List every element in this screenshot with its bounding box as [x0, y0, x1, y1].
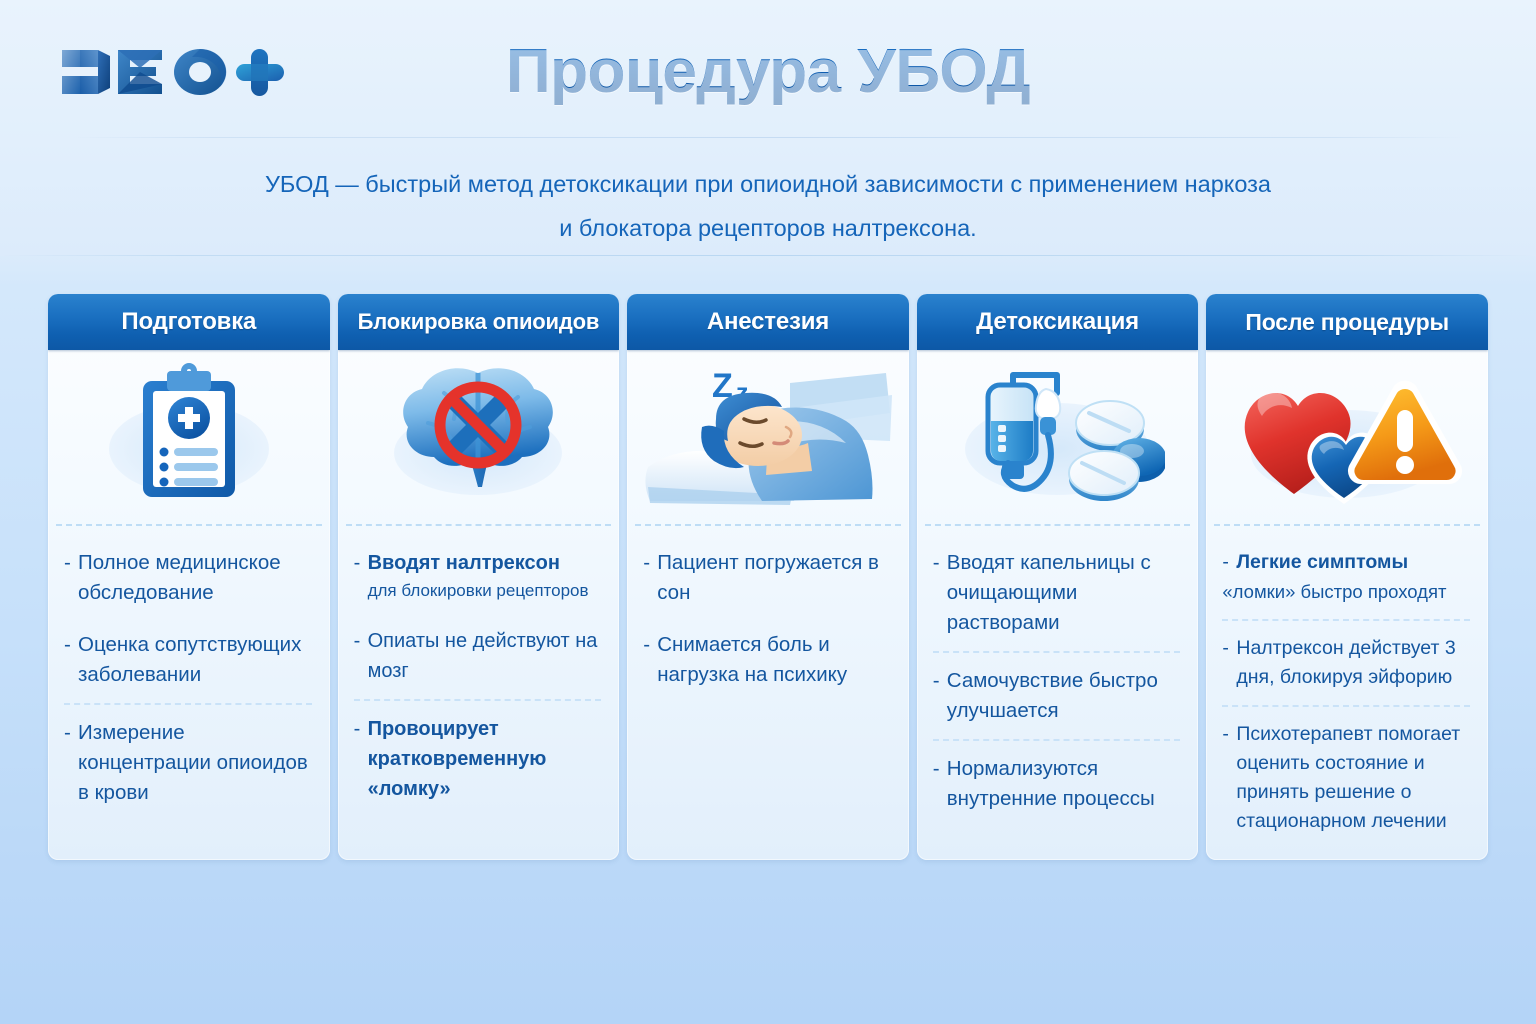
- step-bullets-anesthesia: - Пациент погружается в сон - Снимается …: [627, 526, 909, 860]
- bullet-separator: [1222, 619, 1470, 621]
- bullet-text: Легкие симптомы «ломки» быстро проходят: [1236, 548, 1472, 606]
- step-header-opioid-blocking: Блокировка опиоидов: [338, 294, 620, 350]
- bullet-separator: [1222, 705, 1470, 707]
- bullet-text: Вводят налтрексон для блокировки рецепто…: [368, 548, 604, 604]
- step-header-preparation: Подготовка: [48, 294, 330, 350]
- step-icon-area-detox: [917, 350, 1199, 524]
- step-card-anesthesia[interactable]: Анестезия: [627, 294, 909, 860]
- bullet-dash: -: [64, 630, 78, 690]
- bullet-item: - Легкие симптомы «ломки» быстро проходя…: [1222, 548, 1472, 606]
- bullet-text: Самочувствие быстро улучшается: [947, 666, 1183, 726]
- bullet-dash: -: [64, 548, 78, 608]
- card-section-divider: [56, 524, 322, 526]
- card-section-divider: [925, 524, 1191, 526]
- bullet-item: - Полное медицинское обследование: [64, 548, 314, 608]
- sleeping-patient-icon: Z z z: [640, 355, 895, 520]
- bullet-main-text: Легкие симптомы: [1236, 551, 1408, 573]
- bullet-dash: -: [1222, 720, 1236, 836]
- bullet-gap: [64, 608, 314, 630]
- bullet-main-text: Вводят налтрексон: [368, 552, 560, 574]
- bullet-text: Полное медицинское обследование: [78, 548, 314, 608]
- bullet-gap: [643, 608, 893, 630]
- bullet-dash: -: [1222, 634, 1236, 692]
- brain-blocked-icon: [378, 357, 578, 517]
- bullet-item: - Налтрексон действует 3 дня, блокируя э…: [1222, 634, 1472, 692]
- bullet-sub-text: «ломки» быстро проходят: [1222, 577, 1472, 606]
- bullet-text: Налтрексон действует 3 дня, блокируя эйф…: [1236, 634, 1472, 692]
- bullet-text: Оценка сопутствующих заболевании: [78, 630, 314, 690]
- bullet-item: - Самочувствие быстро улучшается: [933, 666, 1183, 726]
- bullet-dash: -: [354, 714, 368, 804]
- bullet-item: - Провоцирует кратковременную «ломку»: [354, 714, 604, 804]
- card-section-divider: [346, 524, 612, 526]
- title-underline-rule: [72, 137, 1464, 138]
- bullet-gap: [354, 604, 604, 626]
- bullet-item: - Вводят налтрексон для блокировки рецеп…: [354, 548, 604, 604]
- bullet-dash: -: [64, 718, 78, 808]
- subtitle-line-1: УБОД — быстрый метод детоксикации при оп…: [265, 171, 1271, 197]
- bullet-item: - Психотерапевт помогает оценить состоян…: [1222, 720, 1472, 836]
- bullet-dash: -: [354, 548, 368, 604]
- step-card-opioid-blocking[interactable]: Блокировка опиоидов: [338, 294, 620, 860]
- bullet-text: Измерение концентрации опиоидов в крови: [78, 718, 314, 808]
- bullet-text: Вводят капельницы с очищающими растворам…: [947, 548, 1183, 638]
- bullet-separator: [354, 699, 602, 701]
- step-header-after-procedure: После процедуры: [1206, 294, 1488, 350]
- bullet-text: Опиаты не действуют на мозг: [368, 626, 604, 686]
- step-header-label: Подготовка: [121, 308, 256, 336]
- step-card-preparation[interactable]: Подготовка: [48, 294, 330, 860]
- bullet-item: - Оценка сопутствующих заболевании: [64, 630, 314, 690]
- step-header-anesthesia: Анестезия: [627, 294, 909, 350]
- bullet-item: - Опиаты не действуют на мозг: [354, 626, 604, 686]
- step-icon-area-preparation: [48, 350, 330, 524]
- bullet-item: - Нормализуются внутренние процессы: [933, 754, 1183, 814]
- header-divider-rule: [0, 255, 1536, 256]
- bullet-text: Пациент погружается в сон: [657, 548, 893, 608]
- card-section-divider: [1214, 524, 1480, 526]
- step-header-detox: Детоксикация: [917, 294, 1199, 350]
- bullet-sub-text: для блокировки рецепторов: [368, 578, 604, 604]
- bullet-text: Снимается боль и нагрузка на психику: [657, 630, 893, 690]
- bullet-separator: [933, 651, 1181, 653]
- step-bullets-detox: - Вводят капельницы с очищающими раствор…: [917, 526, 1199, 860]
- hearts-warning-icon: [1232, 362, 1462, 512]
- iv-drip-pills-icon: [950, 357, 1165, 517]
- bullet-dash: -: [933, 754, 947, 814]
- bullet-text: Нормализуются внутренние процессы: [947, 754, 1183, 814]
- bullet-item: - Снимается боль и нагрузка на психику: [643, 630, 893, 690]
- step-card-detox[interactable]: Детоксикация: [917, 294, 1199, 860]
- step-card-after-procedure[interactable]: После процедуры: [1206, 294, 1488, 860]
- bullet-item: - Измерение концентрации опиоидов в кров…: [64, 718, 314, 808]
- bullet-dash: -: [643, 630, 657, 690]
- step-header-label: Блокировка опиоидов: [358, 309, 600, 335]
- step-icon-area-opioid-blocking: [338, 350, 620, 524]
- bullet-dash: -: [933, 666, 947, 726]
- bullet-text: Провоцирует кратковременную «ломку»: [368, 714, 604, 804]
- clipboard-medical-icon: [94, 357, 284, 517]
- bullet-item: - Вводят капельницы с очищающими раствор…: [933, 548, 1183, 638]
- step-icon-area-after-procedure: [1206, 350, 1488, 524]
- card-section-divider: [635, 524, 901, 526]
- step-header-label: Детоксикация: [976, 308, 1139, 336]
- bullet-text: Психотерапевт помогает оценить состояние…: [1236, 720, 1472, 836]
- step-bullets-preparation: - Полное медицинское обследование - Оцен…: [48, 526, 330, 860]
- step-icon-area-anesthesia: Z z z: [627, 350, 909, 524]
- bullet-item: - Пациент погружается в сон: [643, 548, 893, 608]
- bullet-dash: -: [643, 548, 657, 608]
- step-header-label: После процедуры: [1245, 309, 1449, 336]
- page-subtitle: УБОД — быстрый метод детоксикации при оп…: [168, 162, 1368, 250]
- step-bullets-after-procedure: - Легкие симптомы «ломки» быстро проходя…: [1206, 526, 1488, 860]
- bullet-separator: [933, 739, 1181, 741]
- page-title: Процедура УБОД: [0, 36, 1536, 107]
- subtitle-line-2: и блокатора рецепторов налтрексона.: [168, 206, 1368, 250]
- step-header-label: Анестезия: [707, 308, 829, 336]
- bullet-dash: -: [354, 626, 368, 686]
- step-bullets-opioid-blocking: - Вводят налтрексон для блокировки рецеп…: [338, 526, 620, 860]
- steps-card-row: Подготовка: [48, 294, 1488, 860]
- bullet-dash: -: [933, 548, 947, 638]
- bullet-separator: [64, 703, 312, 705]
